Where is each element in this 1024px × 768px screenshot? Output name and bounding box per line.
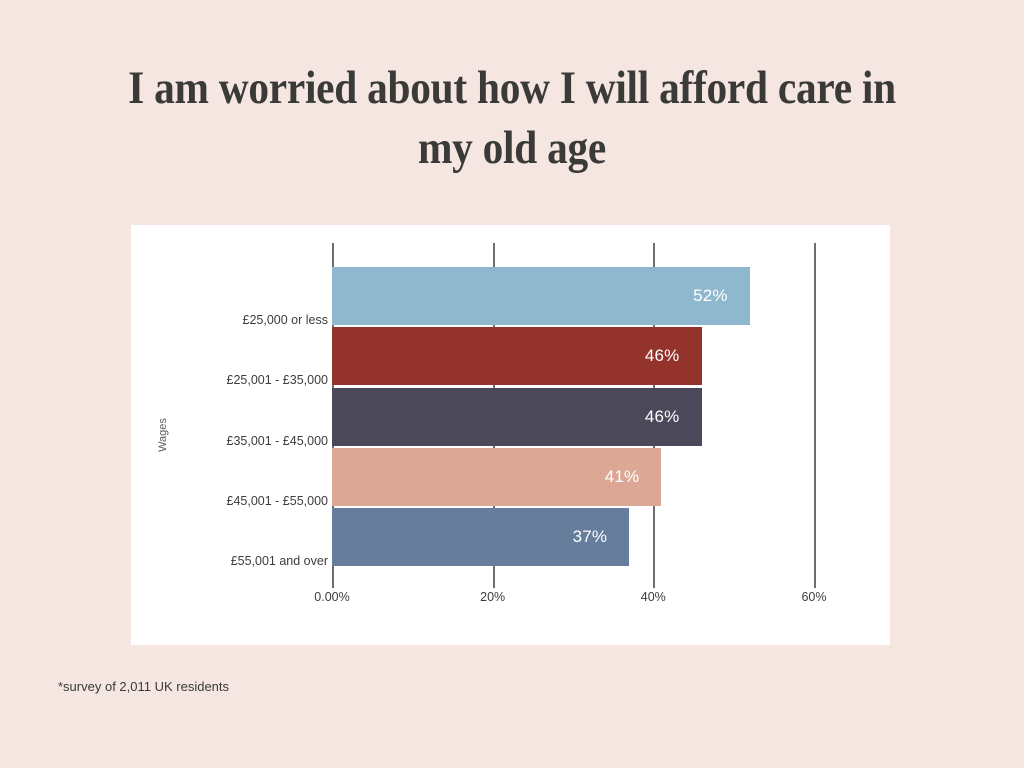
footnote: *survey of 2,011 UK residents	[58, 679, 229, 694]
bar[interactable]: 41%	[332, 448, 661, 506]
x-axis-tick-label: 40%	[641, 590, 666, 604]
chart-card: Wages £25,000 or less £25,001 - £35,000 …	[131, 225, 890, 645]
bar-row: 41%	[332, 448, 822, 506]
page-title: I am worried about how I will afford car…	[114, 58, 910, 178]
x-axis-tick-labels: 0.00%20%40%60%	[332, 590, 822, 614]
bar[interactable]: 46%	[332, 327, 702, 385]
y-axis-tick-label: £25,000 or less	[176, 291, 328, 349]
bar[interactable]: 37%	[332, 508, 629, 566]
bar[interactable]: 52%	[332, 267, 750, 325]
bar-row: 46%	[332, 327, 822, 385]
bar-row: 52%	[332, 267, 822, 325]
bar[interactable]: 46%	[332, 388, 702, 446]
x-axis-tick-label: 60%	[801, 590, 826, 604]
y-axis-category-labels: £25,000 or less £25,001 - £35,000 £35,00…	[176, 267, 328, 612]
bar-value-label: 46%	[645, 346, 680, 366]
y-axis-tick-label: £25,001 - £35,000	[176, 351, 328, 409]
bar-row: 46%	[332, 388, 822, 446]
bar-value-label: 41%	[605, 467, 640, 487]
y-axis-tick-label: £35,001 - £45,000	[176, 412, 328, 470]
y-axis-tick-label: £55,001 and over	[176, 532, 328, 590]
x-axis-tick-label: 0.00%	[314, 590, 349, 604]
x-axis-tick-label: 20%	[480, 590, 505, 604]
bar-row: 37%	[332, 508, 822, 566]
y-axis-tick-label: £45,001 - £55,000	[176, 472, 328, 530]
y-axis-title-label: Wages	[157, 418, 169, 452]
bar-value-label: 46%	[645, 407, 680, 427]
plot-area: 52% 46% 46% 41% 37%	[332, 243, 822, 588]
bar-value-label: 37%	[573, 527, 608, 547]
y-axis-title: Wages	[153, 225, 173, 645]
bar-series: 52% 46% 46% 41% 37%	[332, 267, 822, 566]
bar-value-label: 52%	[693, 286, 728, 306]
